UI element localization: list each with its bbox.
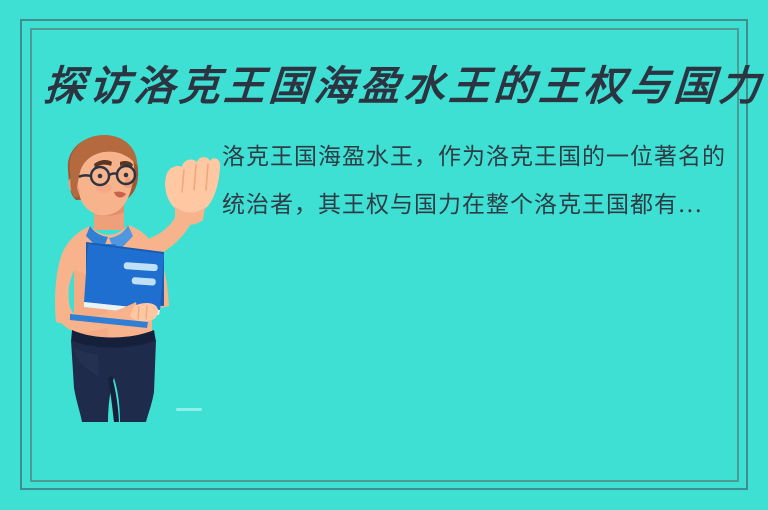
book-cover-shape (84, 244, 164, 310)
illustration-man-waving (42, 126, 222, 426)
ground-accent-line (176, 408, 202, 411)
poster-canvas: 探访洛克王国海盈水王的王权与国力 洛克王国海盈水王，作为洛克王国的一位著名的统治… (0, 0, 768, 510)
eye-right (124, 173, 129, 178)
body-paragraph: 洛克王国海盈水王，作为洛克王国的一位著名的统治者，其王权与国力在整个洛克王国都有… (222, 133, 734, 229)
waving-hand-palm (165, 157, 220, 214)
eye-left (98, 174, 103, 179)
page-title: 探访洛克王国海盈水王的王权与国力 (42, 58, 726, 114)
